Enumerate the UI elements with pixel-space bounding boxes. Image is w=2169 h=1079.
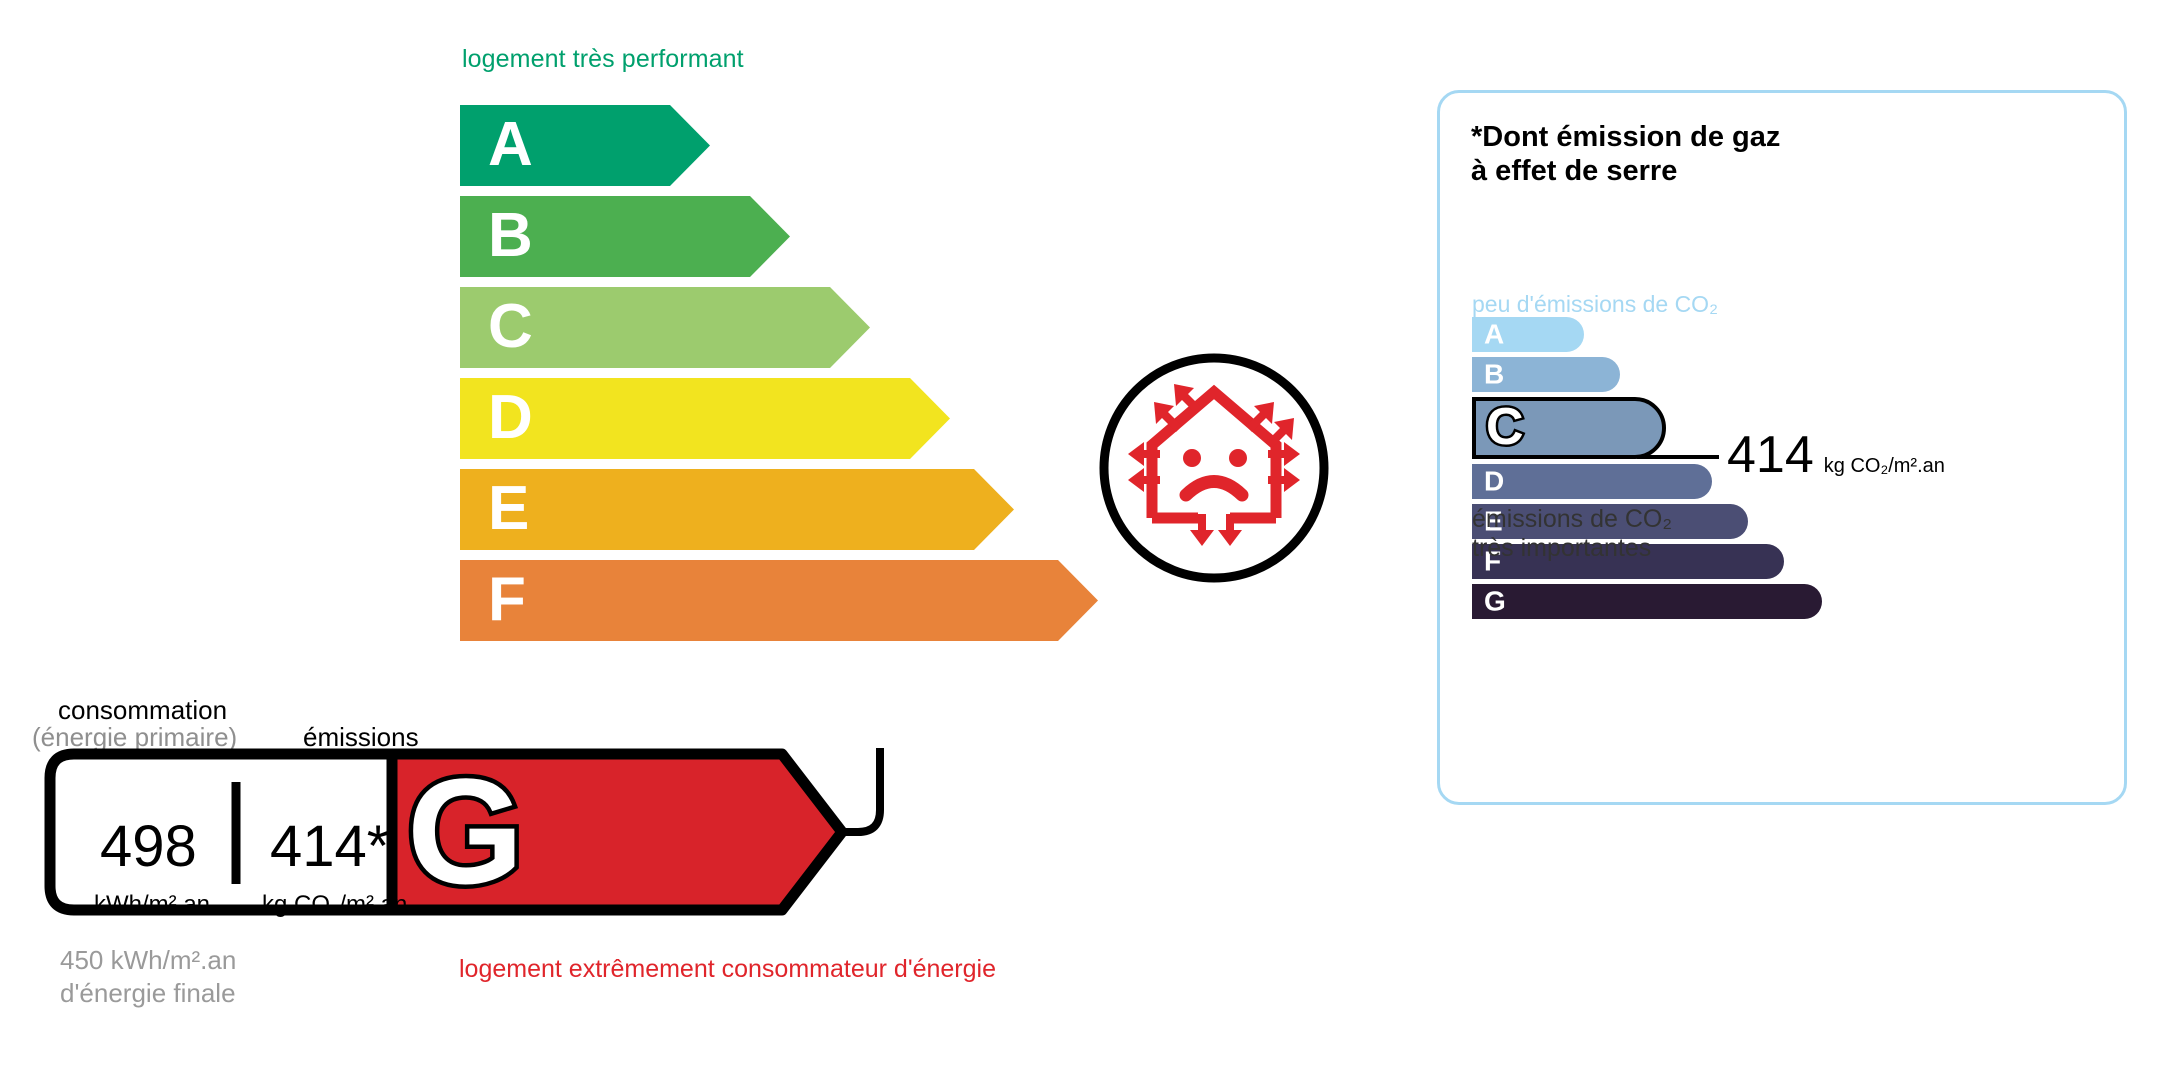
energy-bar-f [460,560,1098,641]
final-energy-label: d'énergie finale [60,978,236,1009]
energy-rating-letter-g: G [407,756,524,906]
consumption-value: 498 [100,818,197,876]
final-energy-value: 450 kWh/m².an [60,945,236,976]
emission-unit: kg CO₂/m².an [262,893,407,917]
energy-top-caption: logement très performant [462,45,744,74]
co2-callout-unit: kg CO₂/m².an [1824,456,1945,476]
emission-value: 414* [270,818,389,876]
energy-rating-row-g: 498 kWh/m².an 414* kg CO₂/m².an G [42,748,1142,916]
energy-bar-c [460,287,870,368]
co2-callout-leader-line [1637,455,1719,459]
energy-bar-e [460,469,1014,550]
co2-bar-b [1472,357,1620,392]
co2-bottom-caption: émissions de CO₂ très importantes [1472,505,1672,563]
co2-callout: 414 kg CO₂/m².an [1637,429,1945,481]
co2-top-caption: peu d'émissions de CO₂ [1472,291,1718,318]
co2-emissions-panel: *Dont émission de gaz à effet de serre p… [1437,90,2127,805]
co2-bar-a [1472,317,1584,352]
co2-panel-title: *Dont émission de gaz à effet de serre [1471,120,1780,188]
consumption-unit: kWh/m².an [94,893,210,917]
energy-performance-chart: logement très performant A B [0,0,1340,1079]
energy-bar-d [460,378,950,459]
co2-bar-g [1472,584,1822,619]
energy-bar-a [460,105,710,186]
co2-callout-value: 414 [1727,429,1814,481]
energy-badge [1090,340,1350,870]
energy-bar-b [460,196,790,277]
energy-bottom-caption: logement extrêmement consommateur d'éner… [459,955,996,984]
